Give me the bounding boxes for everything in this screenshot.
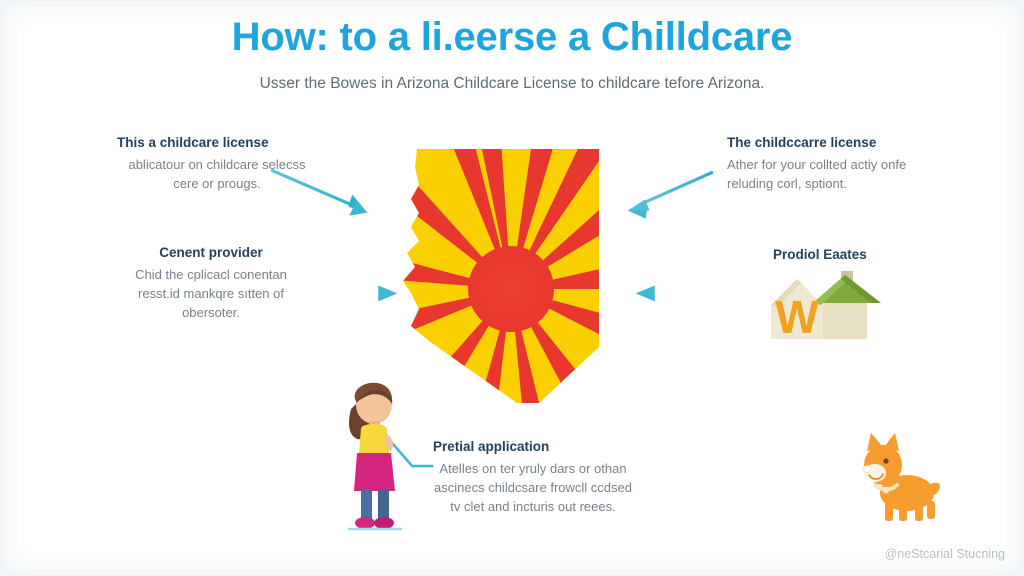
house-letter-w: W — [775, 291, 819, 343]
watermark-credit: @neStcarial Stucning — [885, 547, 1005, 561]
arrow-topleft-to-map — [272, 171, 367, 216]
arrow-right-to-map — [636, 285, 716, 301]
arrow-midleft-to-map — [300, 285, 397, 301]
child-illustration — [337, 379, 415, 531]
infographic-canvas: How: to a li.eerse a Chilldcare Usser th… — [0, 0, 1024, 576]
house-icon: W — [761, 269, 887, 343]
arrow-topright-to-map — [628, 173, 712, 219]
dog-illustration — [853, 429, 949, 525]
